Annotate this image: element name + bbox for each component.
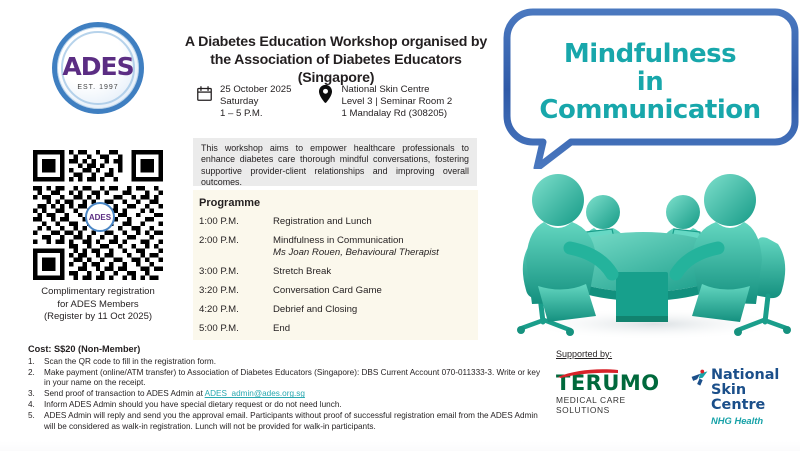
step-text: Send proof of transaction to ADES Admin …: [44, 389, 548, 399]
event-meta: 25 October 2025 Saturday 1 – 5 P.M. Nati…: [196, 84, 496, 121]
step-item: 3. Send proof of transaction to ADES Adm…: [28, 389, 548, 399]
bubble-line-3: Communication: [530, 96, 770, 124]
venue-name: National Skin Centre: [341, 84, 452, 96]
cost-label: Cost: S$20 (Non-Member): [28, 344, 140, 354]
poster-canvas: ADES EST. 1997: [0, 0, 800, 451]
step-number: 3.: [28, 389, 44, 399]
event-date-block: 25 October 2025 Saturday 1 – 5 P.M.: [196, 84, 291, 121]
nsc-name-line1: National: [711, 368, 800, 383]
programme-item: Stretch Break: [273, 266, 331, 278]
programme-panel: Programme 1:00 P.M. Registration and Lun…: [193, 190, 478, 340]
nsc-top-row: National Skin Centre: [690, 368, 800, 413]
step-number: 2.: [28, 368, 44, 389]
step-item: 1. Scan the QR code to fill in the regis…: [28, 357, 548, 367]
step-text: ADES Admin will reply and send you the a…: [44, 411, 548, 432]
programme-item-label: Conversation Card Game: [273, 285, 382, 296]
logo-wordmark: ADES: [52, 52, 144, 81]
ades-logo: ADES EST. 1997: [52, 22, 144, 114]
location-pin-icon: [317, 84, 334, 104]
programme-item: Conversation Card Game: [273, 285, 382, 297]
programme-time: 5:00 P.M.: [199, 323, 273, 335]
programme-item-label: Mindfulness in Communication: [273, 235, 404, 246]
qr-center-logo: ADES: [85, 202, 115, 232]
meeting-table-illustration: [508, 152, 800, 342]
qr-code[interactable]: ADES: [33, 150, 163, 280]
programme-row: 5:00 P.M. End: [199, 323, 478, 335]
programme-item-label: End: [273, 323, 290, 334]
terumo-logo: TERUMO MEDICAL CARE SOLUTIONS: [556, 368, 676, 416]
step-text: Inform ADES Admin should you have specia…: [44, 400, 548, 410]
step-item: 2. Make payment (online/ATM transfer) to…: [28, 368, 548, 389]
event-day: Saturday: [220, 96, 291, 108]
step-text-lead: Send proof of transaction to ADES Admin …: [44, 389, 205, 398]
nsc-person-icon: [690, 369, 709, 388]
step-item: 4. Inform ADES Admin should you have spe…: [28, 400, 548, 410]
ades-admin-email-link[interactable]: ADES_admin@ades.org.sg: [205, 389, 305, 398]
terumo-swoosh-icon: [558, 369, 618, 378]
venue-address: 1 Mandalay Rd (308205): [341, 108, 452, 120]
bubble-line-2: in: [530, 68, 770, 96]
programme-item: Debrief and Closing: [273, 304, 357, 316]
step-number: 4.: [28, 400, 44, 410]
programme-item-label: Stretch Break: [273, 266, 331, 277]
registration-steps: 1. Scan the QR code to fill in the regis…: [28, 357, 548, 433]
event-date: 25 October 2025: [220, 84, 291, 96]
programme-item: Registration and Lunch: [273, 216, 372, 228]
bottom-edge-fade: [0, 441, 800, 451]
programme-row: 3:00 P.M. Stretch Break: [199, 266, 478, 278]
step-number: 1.: [28, 357, 44, 367]
bubble-headline: Mindfulness in Communication: [530, 40, 770, 124]
programme-row: 1:00 P.M. Registration and Lunch: [199, 216, 478, 228]
step-item: 5. ADES Admin will reply and send you th…: [28, 411, 548, 432]
programme-item: Mindfulness in Communication Ms Joan Rou…: [273, 235, 439, 260]
event-venue-text: National Skin Centre Level 3 | Seminar R…: [341, 84, 452, 121]
programme-item-label: Registration and Lunch: [273, 216, 372, 227]
page-title: A Diabetes Education Workshop organised …: [176, 33, 496, 87]
event-venue-block: National Skin Centre Level 3 | Seminar R…: [317, 84, 452, 121]
programme-time: 3:00 P.M.: [199, 266, 273, 278]
programme-row: 2:00 P.M. Mindfulness in Communication M…: [199, 235, 478, 260]
programme-item: End: [273, 323, 290, 335]
logo-established: EST. 1997: [52, 84, 144, 91]
programme-row: 3:20 P.M. Conversation Card Game: [199, 285, 478, 297]
qr-caption: Complimentary registration for ADES Memb…: [8, 286, 188, 324]
step-text: Scan the QR code to fill in the registra…: [44, 357, 548, 367]
programme-time: 4:20 P.M.: [199, 304, 273, 316]
programme-time: 2:00 P.M.: [199, 235, 273, 260]
nsc-wordmark: National Skin Centre: [711, 368, 800, 413]
calendar-icon: [196, 85, 213, 102]
workshop-description: This workshop aims to empower healthcare…: [193, 138, 477, 186]
bubble-line-1: Mindfulness: [530, 40, 770, 68]
supported-by-label: Supported by:: [556, 349, 612, 359]
step-number: 5.: [28, 411, 44, 432]
programme-time: 1:00 P.M.: [199, 216, 273, 228]
programme-time: 3:20 P.M.: [199, 285, 273, 297]
programme-item-label: Debrief and Closing: [273, 304, 357, 315]
programme-item-speaker: Ms Joan Rouen, Behavioural Therapist: [273, 247, 439, 259]
terumo-tagline-line2: SOLUTIONS: [556, 406, 676, 416]
national-skin-centre-logo: National Skin Centre NHG Health: [690, 368, 800, 426]
qr-caption-line1: Complimentary registration: [8, 286, 188, 299]
venue-level: Level 3 | Seminar Room 2: [341, 96, 452, 108]
sponsor-logos: TERUMO MEDICAL CARE SOLUTIONS National S…: [556, 368, 800, 426]
event-time: 1 – 5 P.M.: [220, 108, 291, 120]
step-text: Make payment (online/ATM transfer) to As…: [44, 368, 548, 389]
terumo-tagline: MEDICAL CARE SOLUTIONS: [556, 396, 676, 416]
nsc-name-line2: Skin Centre: [711, 383, 800, 413]
qr-caption-line3: (Register by 11 Oct 2025): [8, 311, 188, 324]
nsc-tagline: NHG Health: [711, 415, 800, 426]
event-date-text: 25 October 2025 Saturday 1 – 5 P.M.: [220, 84, 291, 121]
programme-row: 4:20 P.M. Debrief and Closing: [199, 304, 478, 316]
qr-caption-line2: for ADES Members: [8, 299, 188, 312]
programme-title: Programme: [199, 197, 478, 209]
